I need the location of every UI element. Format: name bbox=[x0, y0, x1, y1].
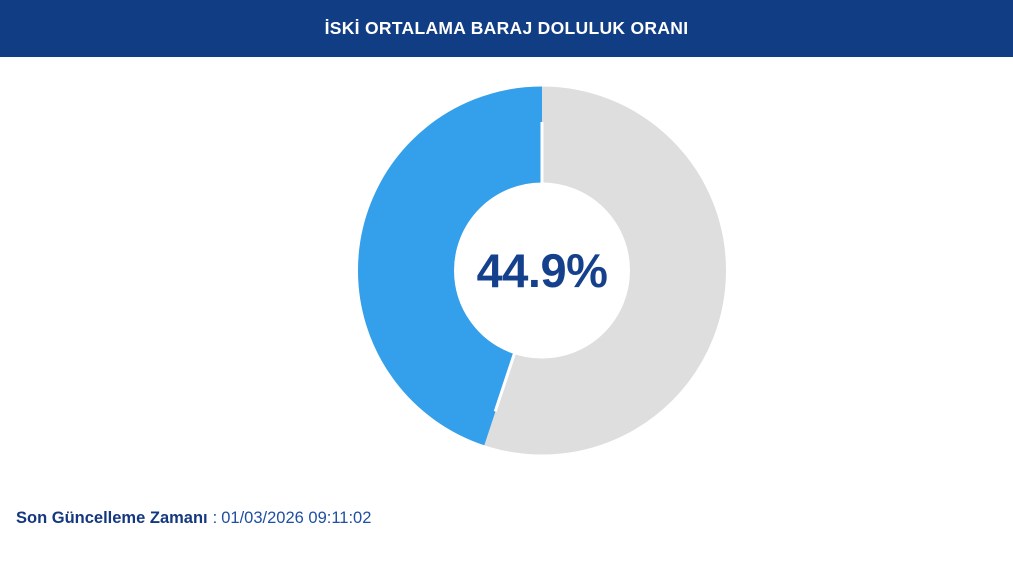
page-header: İSKİ ORTALAMA BARAJ DOLULUK ORANI bbox=[0, 0, 1013, 57]
page-title: İSKİ ORTALAMA BARAJ DOLULUK ORANI bbox=[325, 18, 689, 39]
last-update-label: Son Güncelleme Zamanı bbox=[16, 509, 208, 528]
last-update-separator: : bbox=[213, 509, 218, 528]
dam-occupancy-donut-chart: 44.9% bbox=[358, 86, 726, 455]
last-update-value: 01/03/2026 09:11:02 bbox=[221, 509, 371, 528]
donut-svg bbox=[358, 86, 726, 455]
chart-area: 44.9% bbox=[0, 57, 1013, 497]
last-update-row: Son Güncelleme Zamanı : 01/03/2026 09:11… bbox=[16, 509, 371, 528]
